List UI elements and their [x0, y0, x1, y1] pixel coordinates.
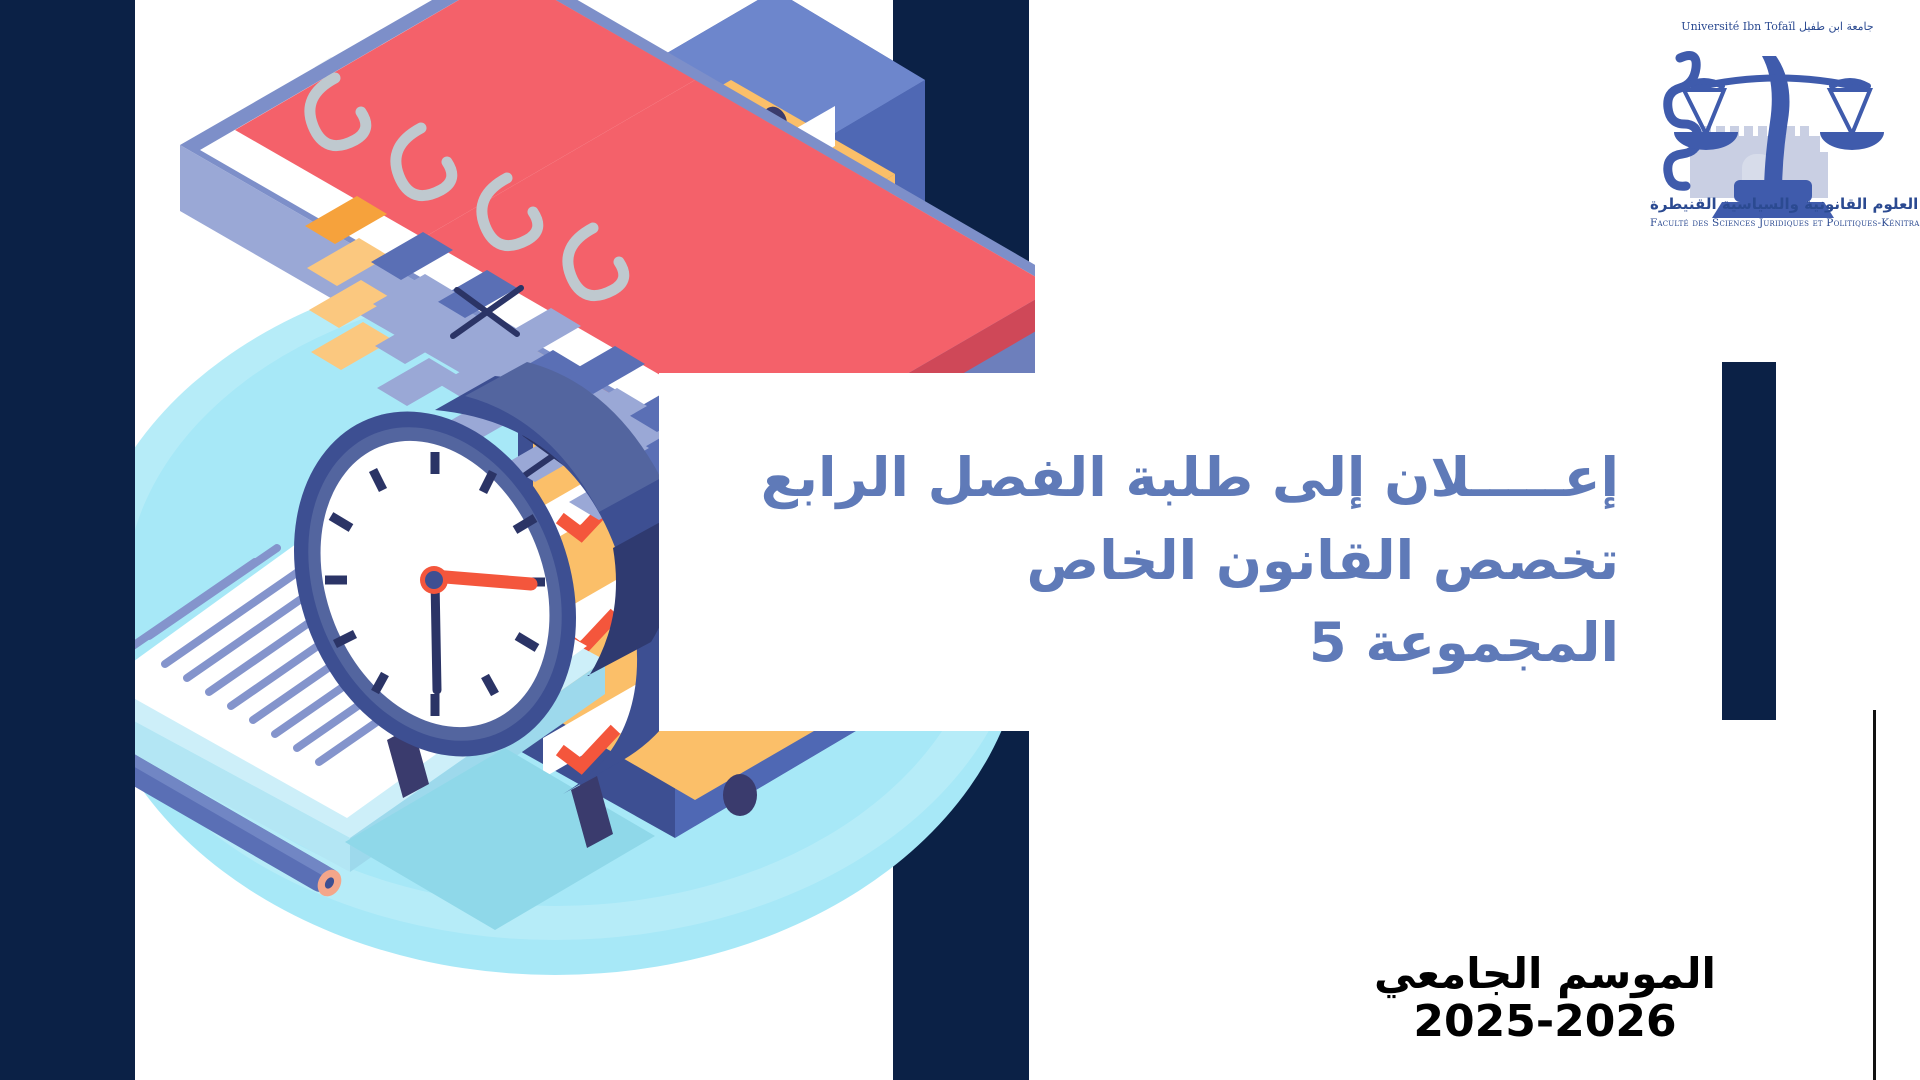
- academic-season-years: 2025-2026: [1290, 997, 1800, 1046]
- academic-season-block: الموسم الجامعي 2025-2026: [1290, 950, 1800, 1046]
- decor-bar-left: [0, 0, 135, 1080]
- logo-faculty-french: Faculté des Sciences Juridiques et Polit…: [1650, 217, 1905, 229]
- headline-block: إعـــــلان إلى طلبة الفصل الرابع تخصص ال…: [659, 373, 1649, 731]
- decor-bar-right: [1722, 362, 1776, 720]
- university-logo: Université Ibn Tofaïl جامعة ابن طفيل: [1650, 14, 1905, 264]
- headline-line-3: المجموعة 5: [659, 605, 1619, 682]
- announcement-slide: إعـــــلان إلى طلبة الفصل الرابع تخصص ال…: [0, 0, 1920, 1080]
- headline-line-2: تخصص القانون الخاص: [659, 523, 1619, 600]
- decor-vertical-rule: [1873, 710, 1876, 1080]
- academic-season-label: الموسم الجامعي: [1290, 950, 1800, 997]
- logo-faculty-arabic: كلية العلوم القانونية والسياسية القنيطرة: [1650, 195, 1905, 213]
- headline-line-1: إعـــــلان إلى طلبة الفصل الرابع: [659, 440, 1619, 517]
